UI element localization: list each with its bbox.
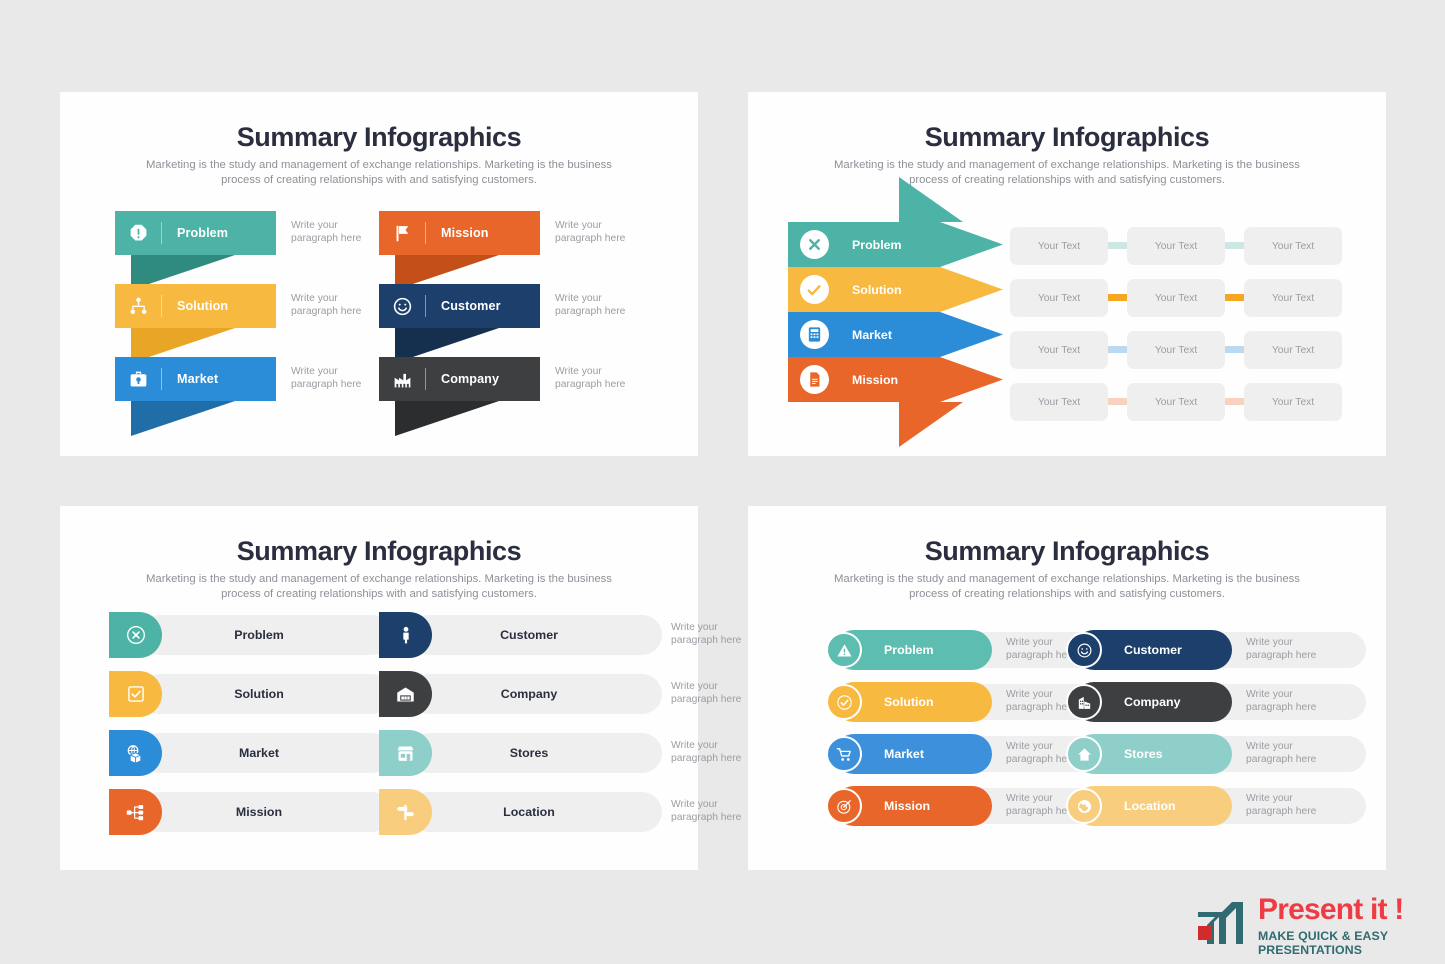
pill-row-location[interactable]: Location Write your paragraph here bbox=[1066, 786, 1366, 826]
arrow-row-market[interactable]: Market bbox=[788, 312, 1003, 357]
row-note: Write your paragraph here bbox=[1246, 688, 1336, 714]
connector-bar bbox=[1106, 346, 1128, 353]
page-title: Summary Infographics bbox=[60, 122, 698, 153]
row-label: Company bbox=[444, 671, 614, 717]
page-title: Summary Infographics bbox=[748, 122, 1386, 153]
page-title: Summary Infographics bbox=[60, 536, 698, 567]
page-subtitle: Marketing is the study and management of… bbox=[139, 158, 619, 188]
row-label: Mission bbox=[174, 789, 344, 835]
present-it-mark-icon bbox=[1196, 898, 1250, 946]
pill-row-company[interactable]: Company Write your paragraph here bbox=[1066, 682, 1366, 722]
ribbon-label: Problem bbox=[162, 226, 228, 240]
check-circle-icon bbox=[788, 267, 840, 312]
ribbon-label: Solution bbox=[162, 299, 228, 313]
page-title: Summary Infographics bbox=[748, 536, 1386, 567]
x-circle-icon bbox=[788, 222, 840, 267]
sitemap-icon bbox=[109, 789, 162, 835]
text-cell[interactable]: Your Text bbox=[1244, 279, 1342, 317]
connector-bar bbox=[1106, 242, 1128, 249]
ribbon-label: Customer bbox=[426, 299, 501, 313]
row-label: Location bbox=[444, 789, 614, 835]
check-circle-icon bbox=[826, 684, 862, 720]
flag-icon bbox=[379, 211, 425, 255]
arrow-label: Market bbox=[840, 328, 892, 342]
warehouse-icon bbox=[379, 671, 432, 717]
text-cell[interactable]: Your Text bbox=[1127, 227, 1225, 265]
row-note: Write your paragraph here bbox=[671, 621, 757, 647]
slide-panel-pill-rows[interactable]: Summary Infographics Marketing is the st… bbox=[748, 506, 1386, 870]
smiley-face-icon bbox=[379, 284, 425, 328]
connector-bar bbox=[1106, 398, 1128, 405]
text-cell[interactable]: Your Text bbox=[1010, 383, 1108, 421]
slide-panel-d-shape-rows[interactable]: Summary Infographics Marketing is the st… bbox=[60, 506, 698, 870]
row-note: Write your paragraph here bbox=[671, 798, 757, 824]
globe-icon bbox=[1066, 788, 1102, 824]
slide-deck-overview: Summary Infographics Marketing is the st… bbox=[0, 0, 1445, 964]
row-label: Stores bbox=[444, 730, 614, 776]
row-label: Customer bbox=[444, 612, 614, 658]
row-note: Write your paragraph here bbox=[1246, 792, 1336, 818]
logo-wordmark: Present it ! bbox=[1258, 893, 1403, 927]
arrow-row-solution[interactable]: Solution bbox=[788, 267, 1003, 312]
building-icon bbox=[1066, 684, 1102, 720]
text-cell[interactable]: Your Text bbox=[1127, 279, 1225, 317]
text-cell[interactable]: Your Text bbox=[1244, 227, 1342, 265]
connector-bar bbox=[1106, 294, 1128, 301]
ribbon-note: Write your paragraph here bbox=[291, 365, 375, 391]
row-label: Market bbox=[174, 730, 344, 776]
row-note: Write your paragraph here bbox=[671, 680, 757, 706]
d-row-mission[interactable]: Mission Write your paragraph here bbox=[109, 789, 392, 835]
d-row-solution[interactable]: Solution Write your paragraph here bbox=[109, 671, 392, 717]
brand-logo[interactable]: Present it ! MAKE QUICK & EASY PRESENTAT… bbox=[1196, 893, 1442, 953]
ribbon-note: Write your paragraph here bbox=[291, 292, 375, 318]
arrow-row-problem[interactable]: Problem bbox=[788, 222, 1003, 267]
warning-triangle-icon bbox=[826, 632, 862, 668]
d-row-market[interactable]: Market Write your paragraph here bbox=[109, 730, 392, 776]
arrow-tail-mission bbox=[899, 402, 963, 447]
text-cell[interactable]: Your Text bbox=[1244, 383, 1342, 421]
factory-icon bbox=[379, 357, 425, 401]
connector-bar bbox=[1223, 242, 1245, 249]
shopping-cart-icon bbox=[826, 736, 862, 772]
text-cell[interactable]: Your Text bbox=[1010, 227, 1108, 265]
smiley-face-icon bbox=[1066, 632, 1102, 668]
target-icon bbox=[826, 788, 862, 824]
briefcase-lock-icon bbox=[115, 357, 161, 401]
ribbon-label: Company bbox=[426, 372, 499, 386]
d-row-company[interactable]: Company Write your paragraph here bbox=[379, 671, 662, 717]
ribbon-note: Write your paragraph here bbox=[555, 365, 639, 391]
d-row-stores[interactable]: Stores Write your paragraph here bbox=[379, 730, 662, 776]
arrow-row-mission[interactable]: Mission bbox=[788, 357, 1003, 402]
row-note: Write your paragraph here bbox=[1246, 636, 1336, 662]
person-icon bbox=[379, 612, 432, 658]
page-subtitle: Marketing is the study and management of… bbox=[827, 572, 1307, 602]
arrow-label: Problem bbox=[840, 238, 902, 252]
ribbon-label: Market bbox=[162, 372, 218, 386]
x-circle-icon bbox=[109, 612, 162, 658]
check-box-icon bbox=[109, 671, 162, 717]
pill-row-stores[interactable]: Stores Write your paragraph here bbox=[1066, 734, 1366, 774]
logo-tagline: MAKE QUICK & EASY PRESENTATIONS bbox=[1258, 929, 1442, 957]
connector-bar bbox=[1223, 346, 1245, 353]
d-row-location[interactable]: Location Write your paragraph here bbox=[379, 789, 662, 835]
ribbon-label: Mission bbox=[426, 226, 489, 240]
d-row-problem[interactable]: Problem Write your paragraph here bbox=[109, 612, 392, 658]
signpost-icon bbox=[379, 789, 432, 835]
row-label: Solution bbox=[174, 671, 344, 717]
text-cell[interactable]: Your Text bbox=[1010, 279, 1108, 317]
text-cell[interactable]: Your Text bbox=[1244, 331, 1342, 369]
arrow-label: Solution bbox=[840, 283, 902, 297]
row-note: Write your paragraph here bbox=[1246, 740, 1336, 766]
storefront-icon bbox=[379, 730, 432, 776]
home-icon bbox=[1066, 736, 1102, 772]
ribbon-note: Write your paragraph here bbox=[555, 292, 639, 318]
document-list-icon bbox=[788, 357, 840, 402]
page-subtitle: Marketing is the study and management of… bbox=[139, 572, 619, 602]
text-cell[interactable]: Your Text bbox=[1127, 331, 1225, 369]
hierarchy-icon bbox=[115, 284, 161, 328]
ribbon-tail bbox=[395, 401, 499, 436]
text-cell[interactable]: Your Text bbox=[1127, 383, 1225, 421]
globe-box-icon bbox=[109, 730, 162, 776]
text-cell[interactable]: Your Text bbox=[1010, 331, 1108, 369]
row-label: Problem bbox=[174, 612, 344, 658]
d-row-customer[interactable]: Customer Write your paragraph here bbox=[379, 612, 662, 658]
row-note: Write your paragraph here bbox=[671, 739, 757, 765]
ribbon-tail bbox=[131, 401, 235, 436]
exclamation-octagon-icon bbox=[115, 211, 161, 255]
ribbon-note: Write your paragraph here bbox=[555, 219, 639, 245]
ribbon-note: Write your paragraph here bbox=[291, 219, 375, 245]
slide-panel-arrow-chevrons[interactable]: Summary Infographics Marketing is the st… bbox=[748, 92, 1386, 456]
connector-bar bbox=[1223, 294, 1245, 301]
arrow-label: Mission bbox=[840, 373, 898, 387]
slide-panel-ribbon-banners[interactable]: Summary Infographics Marketing is the st… bbox=[60, 92, 698, 456]
connector-bar bbox=[1223, 398, 1245, 405]
pill-row-customer[interactable]: Customer Write your paragraph here bbox=[1066, 630, 1366, 670]
calculator-icon bbox=[788, 312, 840, 357]
